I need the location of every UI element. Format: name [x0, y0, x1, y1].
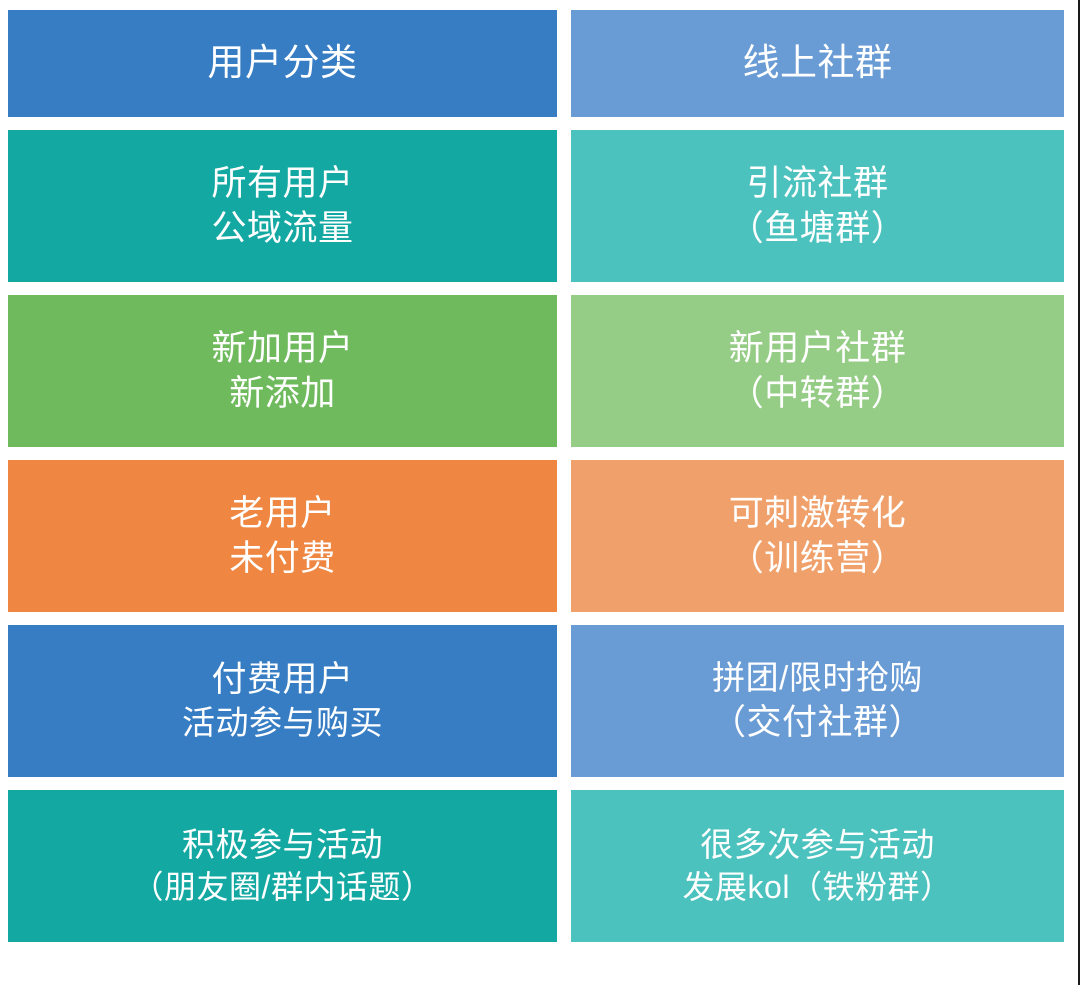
cell-left-active-users[interactable]: 积极参与活动 （朋友圈/群内话题）: [8, 790, 557, 942]
cell-text-line: 公域流量: [211, 206, 353, 252]
cell-right-traffic-community[interactable]: 引流社群 （鱼塘群）: [571, 130, 1064, 282]
cell-text-line: 新用户社群: [729, 326, 907, 372]
cell-left-all-users[interactable]: 所有用户 公域流量: [8, 130, 557, 282]
cell-right-kol-community[interactable]: 很多次参与活动 发展kol（铁粉群）: [571, 790, 1064, 942]
cell-text-line: 线上社群: [743, 39, 893, 87]
cell-text-line: （朋友圈/群内话题）: [132, 867, 434, 909]
cell-text-line: 积极参与活动: [182, 824, 383, 867]
cell-text-line: （鱼塘群）: [729, 206, 907, 252]
diagram-canvas: 用户分类 线上社群 所有用户 公域流量 引流社群 （鱼塘群） 新加用户 新添加 …: [0, 0, 1080, 985]
cell-right-header-online-community[interactable]: 线上社群: [571, 10, 1064, 117]
cell-text-line: 很多次参与活动: [700, 824, 935, 867]
cell-text-line: 所有用户: [211, 161, 353, 207]
cell-text-line: 引流社群: [746, 161, 888, 207]
cell-left-old-unpaid-users[interactable]: 老用户 未付费: [8, 460, 557, 612]
cell-text-line: 新添加: [229, 371, 336, 417]
cell-right-conversion-community[interactable]: 可刺激转化 （训练营）: [571, 460, 1064, 612]
cell-text-line: （中转群）: [729, 371, 907, 417]
cell-text-line: 新加用户: [211, 326, 353, 372]
cell-right-delivery-community[interactable]: 拼团/限时抢购 （交付社群）: [571, 625, 1064, 777]
cell-left-header-user-classification[interactable]: 用户分类: [8, 10, 557, 117]
cell-text-line: 可刺激转化: [729, 491, 907, 537]
cell-text-line: 未付费: [229, 536, 336, 582]
cell-text-line: （训练营）: [729, 536, 907, 582]
cell-text-line: 付费用户: [211, 657, 353, 703]
cell-text-line: 发展kol（铁粉群）: [683, 867, 953, 909]
cell-left-new-users[interactable]: 新加用户 新添加: [8, 295, 557, 447]
cell-left-paid-users[interactable]: 付费用户 活动参与购买: [8, 625, 557, 777]
cell-text-line: 老用户: [229, 491, 336, 537]
cell-text-line: 活动参与购买: [182, 702, 383, 745]
cell-text-line: 用户分类: [208, 39, 358, 87]
cell-right-new-user-community[interactable]: 新用户社群 （中转群）: [571, 295, 1064, 447]
cell-text-line: 拼团/限时抢购: [712, 657, 923, 700]
user-segmentation-community-matrix: 用户分类 线上社群 所有用户 公域流量 引流社群 （鱼塘群） 新加用户 新添加 …: [8, 10, 1064, 970]
cell-text-line: （交付社群）: [711, 700, 924, 746]
